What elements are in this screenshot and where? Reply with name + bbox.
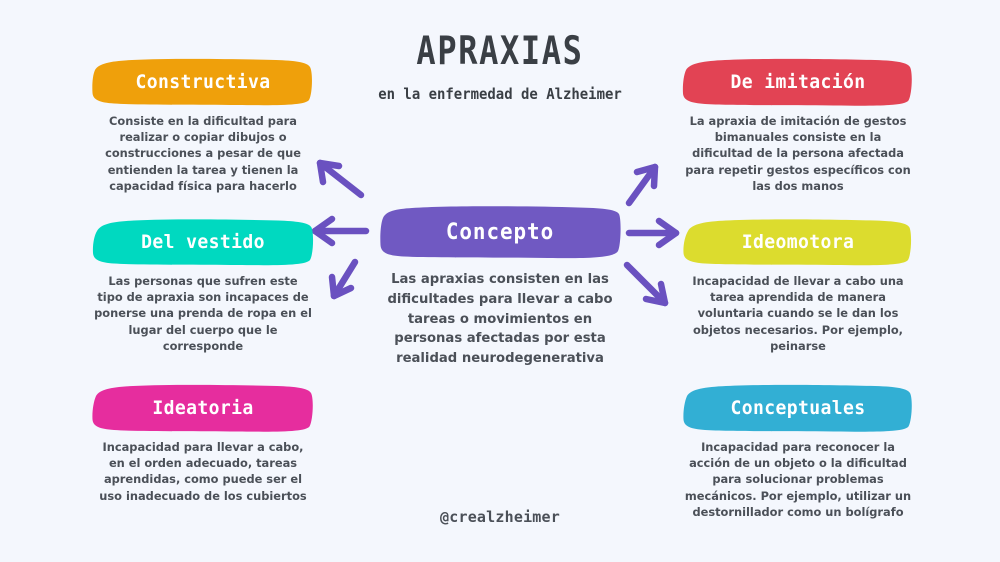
node-ideatoria[interactable]: Ideatoria Incapacidad para llevar a cabo… [88,384,318,504]
node-del-vestido[interactable]: Del vestido Las personas que sufren este… [88,218,318,354]
arrow-to-del-vestido [315,219,366,243]
node-ideomotora-label: Ideomotora [684,218,912,266]
arrow-to-conceptuales [627,265,665,303]
node-del-vestido-banner: Del vestido [88,218,318,266]
node-de-imitacion[interactable]: De imitación La apraxia de imitación de … [678,58,918,194]
node-constructiva-label: Constructiva [94,58,313,106]
node-del-vestido-label: Del vestido [94,218,313,266]
node-ideomotora-banner: Ideomotora [678,218,918,266]
node-de-imitacion-banner: De imitación [678,58,918,106]
node-concepto-body: Las apraxias consisten en las dificultad… [378,270,622,369]
arrow-to-constructiva [320,163,361,195]
node-constructiva[interactable]: Constructiva Consiste en la dificultad p… [88,58,318,194]
node-constructiva-body: Consiste en la dificultad para realizar … [88,113,318,194]
node-de-imitacion-label: De imitación [684,58,912,106]
page-title: APRAXIAS [361,32,640,73]
node-de-imitacion-body: La apraxia de imitación de gestos bimanu… [678,113,918,194]
node-ideomotora-body: Incapacidad de llevar a cabo una tarea a… [678,273,918,354]
node-concepto-banner: Concepto [378,205,622,260]
header-block: APRAXIAS en la enfermedad de Alzheimer [330,32,670,103]
node-conceptuales[interactable]: Conceptuales Incapacidad para reconocer … [678,384,918,520]
page-subtitle: en la enfermedad de Alzheimer [347,85,653,103]
node-ideatoria-label: Ideatoria [94,384,313,432]
node-ideomotora[interactable]: Ideomotora Incapacidad de llevar a cabo … [678,218,918,354]
arrow-to-de-imitacion [629,167,655,203]
node-ideatoria-banner: Ideatoria [88,384,318,432]
node-constructiva-banner: Constructiva [88,58,318,106]
arrow-to-ideomotora [629,221,676,245]
arrow-to-ideatoria [332,262,355,296]
infographic-canvas: APRAXIAS en la enfermedad de Alzheimer [0,0,1000,562]
node-ideatoria-body: Incapacidad para llevar a cabo, en el or… [88,439,318,504]
node-concepto-label: Concepto [384,205,616,260]
node-del-vestido-body: Las personas que sufren este tipo de apr… [88,273,318,354]
node-conceptuales-banner: Conceptuales [678,384,918,432]
node-concepto[interactable]: Concepto Las apraxias consisten en las d… [378,205,622,369]
footer-handle: @crealzheimer [0,508,1000,526]
node-conceptuales-label: Conceptuales [684,384,912,432]
